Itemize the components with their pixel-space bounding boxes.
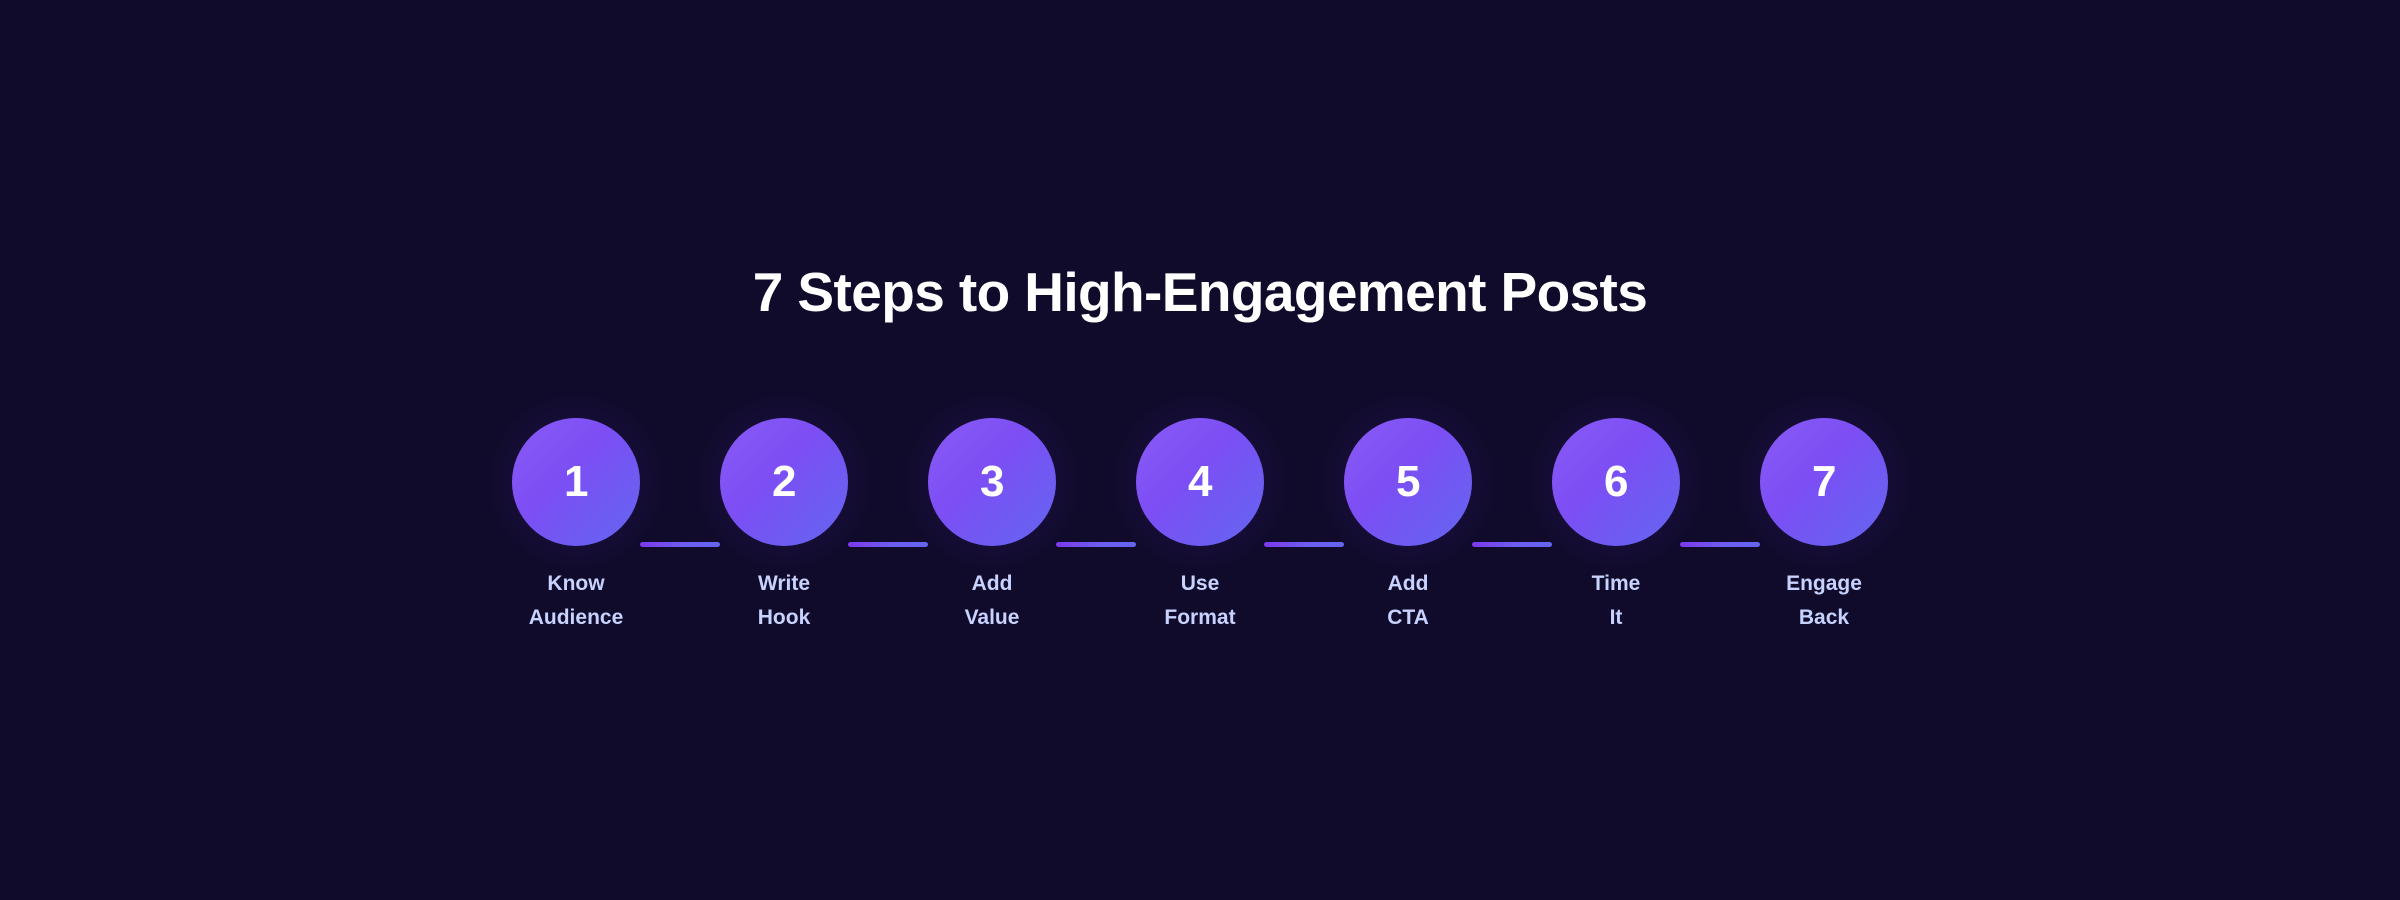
step-label-line2: Format bbox=[1164, 601, 1235, 635]
step-item-4[interactable]: 4UseFormat bbox=[1136, 404, 1264, 635]
step-label: KnowAudience bbox=[529, 567, 624, 635]
step-label-line1: Time bbox=[1592, 567, 1641, 601]
step-number: 7 bbox=[1812, 460, 1836, 504]
step-item-3[interactable]: 3AddValue bbox=[928, 404, 1056, 635]
step-number: 3 bbox=[980, 460, 1004, 504]
step-label: AddCTA bbox=[1387, 567, 1429, 635]
step-item-7[interactable]: 7EngageBack bbox=[1760, 404, 1888, 635]
step-circle[interactable]: 4 bbox=[1136, 418, 1264, 546]
step-label: TimeIt bbox=[1592, 567, 1641, 635]
step-label-line1: Engage bbox=[1786, 567, 1862, 601]
step-label: AddValue bbox=[965, 567, 1020, 635]
step-item-6[interactable]: 6TimeIt bbox=[1552, 404, 1680, 635]
step-connector-bar bbox=[848, 542, 928, 547]
infographic-canvas: 7 Steps to High-Engagement Posts 1KnowAu… bbox=[0, 0, 2400, 900]
step-circle-wrapper: 6 bbox=[1552, 418, 1680, 546]
step-circle[interactable]: 1 bbox=[512, 418, 640, 546]
step-circle[interactable]: 2 bbox=[720, 418, 848, 546]
step-label-line1: Add bbox=[965, 567, 1020, 601]
step-item-1[interactable]: 1KnowAudience bbox=[512, 404, 640, 635]
step-connector bbox=[1264, 418, 1344, 546]
step-circle-wrapper: 7 bbox=[1760, 418, 1888, 546]
step-circle-wrapper: 5 bbox=[1344, 418, 1472, 546]
step-number: 4 bbox=[1188, 460, 1212, 504]
step-connector bbox=[1680, 418, 1760, 546]
page-title: 7 Steps to High-Engagement Posts bbox=[0, 255, 2400, 329]
step-number: 1 bbox=[564, 460, 588, 504]
step-connector bbox=[848, 418, 928, 546]
step-label-line2: CTA bbox=[1387, 601, 1429, 635]
step-label-line1: Write bbox=[758, 567, 811, 601]
step-connector-bar bbox=[1680, 542, 1760, 547]
step-number: 5 bbox=[1396, 460, 1420, 504]
step-connector bbox=[1056, 418, 1136, 546]
step-label-line1: Use bbox=[1164, 567, 1235, 601]
step-label-line1: Add bbox=[1387, 567, 1429, 601]
step-label-line2: Back bbox=[1786, 601, 1862, 635]
step-circle[interactable]: 5 bbox=[1344, 418, 1472, 546]
step-circle[interactable]: 6 bbox=[1552, 418, 1680, 546]
step-label-line2: Hook bbox=[758, 601, 811, 635]
step-label-line2: Audience bbox=[529, 601, 624, 635]
step-circle[interactable]: 7 bbox=[1760, 418, 1888, 546]
step-label-line2: Value bbox=[965, 601, 1020, 635]
step-label: WriteHook bbox=[758, 567, 811, 635]
step-item-5[interactable]: 5AddCTA bbox=[1344, 404, 1472, 635]
step-connector bbox=[640, 418, 720, 546]
step-connector-bar bbox=[1056, 542, 1136, 547]
step-label-line2: It bbox=[1592, 601, 1641, 635]
steps-timeline: 1KnowAudience2WriteHook3AddValue4UseForm… bbox=[0, 404, 2400, 664]
step-connector-bar bbox=[640, 542, 720, 547]
step-number: 2 bbox=[772, 460, 796, 504]
step-connector-bar bbox=[1264, 542, 1344, 547]
step-circle[interactable]: 3 bbox=[928, 418, 1056, 546]
step-circle-wrapper: 4 bbox=[1136, 418, 1264, 546]
step-connector bbox=[1472, 418, 1552, 546]
step-connector-bar bbox=[1472, 542, 1552, 547]
step-label: EngageBack bbox=[1786, 567, 1862, 635]
step-circle-wrapper: 2 bbox=[720, 418, 848, 546]
step-item-2[interactable]: 2WriteHook bbox=[720, 404, 848, 635]
step-circle-wrapper: 1 bbox=[512, 418, 640, 546]
step-number: 6 bbox=[1604, 460, 1628, 504]
step-label-line1: Know bbox=[529, 567, 624, 601]
step-label: UseFormat bbox=[1164, 567, 1235, 635]
step-circle-wrapper: 3 bbox=[928, 418, 1056, 546]
